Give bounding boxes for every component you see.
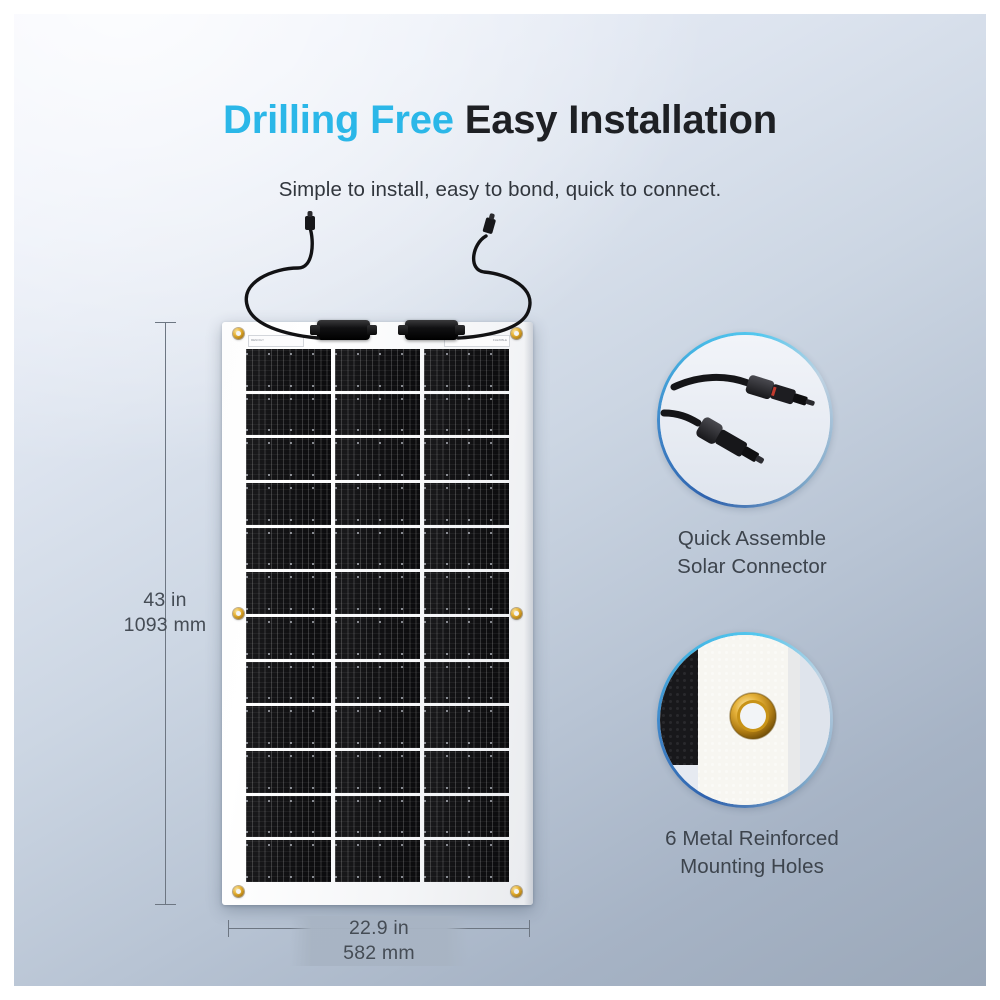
cable-left [246,228,318,338]
feature-solar-connector: Quick Assemble Solar Connector [657,332,847,581]
solar-cell [246,840,331,882]
mounting-grommet [233,886,244,897]
solar-panel-image: RENOGY FLEXIBLE [222,322,533,905]
cell-column [424,349,509,882]
solar-cell [335,706,420,748]
mounting-grommet [511,886,522,897]
cable-right [458,236,530,338]
page-border-bottom [0,986,1000,1000]
solar-cell [246,349,331,391]
dimension-cap-left [228,920,229,937]
width-inches: 22.9 in [290,916,468,941]
dimension-cap-bottom [155,904,176,905]
solar-cell [424,528,509,570]
title-rest-text: Easy Installation [465,98,777,142]
solar-cell [335,349,420,391]
solar-cell [424,840,509,882]
solar-cell [335,394,420,436]
solar-cell [335,572,420,614]
feature-caption-line1: 6 Metal Reinforced [657,825,847,853]
page-border-right [986,0,1000,1000]
solar-cell [424,617,509,659]
infographic-canvas: Drilling Free Easy Installation Simple t… [0,0,1000,1000]
dimension-cap-right [529,920,530,937]
solar-cell [424,751,509,793]
solar-cell [424,438,509,480]
solar-cell [246,438,331,480]
feature-mounting-holes: 6 Metal Reinforced Mounting Holes [657,632,847,881]
solar-cell [335,438,420,480]
feature-photo [660,335,830,505]
solar-cell [335,751,420,793]
height-inches: 43 in [70,588,260,613]
mc4-connector-right [482,212,497,234]
page-border-top [0,0,1000,14]
solar-cell [335,662,420,704]
cell-column [335,349,420,882]
page-title: Drilling Free Easy Installation [0,98,1000,143]
solar-cables [222,210,552,345]
solar-cell [335,796,420,838]
feature-ring [657,332,833,508]
feature-caption: Quick Assemble Solar Connector [657,525,847,581]
page-border-left [0,0,14,1000]
solar-cell [246,662,331,704]
mc4-connector-left [305,211,315,230]
feature-ring [657,632,833,808]
solar-cell [424,662,509,704]
solar-cell [246,751,331,793]
feature-caption: 6 Metal Reinforced Mounting Holes [657,825,847,881]
solar-cell [246,483,331,525]
solar-cell [424,394,509,436]
mounting-grommet [511,608,522,619]
solar-cell [335,528,420,570]
metal-grommet-icon [660,635,830,805]
dimension-height-label: 43 in 1093 mm [70,588,260,638]
solar-cell [424,349,509,391]
dimension-cap-top [155,322,176,323]
feature-photo [660,635,830,805]
feature-caption-line1: Quick Assemble [657,525,847,553]
feature-caption-line2: Solar Connector [657,553,847,581]
solar-cell [335,483,420,525]
height-mm: 1093 mm [70,613,260,638]
solar-cell-matrix [246,349,509,882]
solar-cell [424,706,509,748]
solar-cell [246,528,331,570]
dimension-width-label: 22.9 in 582 mm [290,916,468,966]
solar-cell [335,840,420,882]
title-accent-text: Drilling Free [223,98,454,142]
solar-cell [246,394,331,436]
solar-cell [424,483,509,525]
solar-cell [335,617,420,659]
solar-cell [246,706,331,748]
solar-cell [246,796,331,838]
page-subtitle: Simple to install, easy to bond, quick t… [0,178,1000,202]
feature-caption-line2: Mounting Holes [657,853,847,881]
solar-cell [424,572,509,614]
mc4-solar-connector-icon [660,335,830,505]
solar-cell [424,796,509,838]
width-mm: 582 mm [290,941,468,966]
